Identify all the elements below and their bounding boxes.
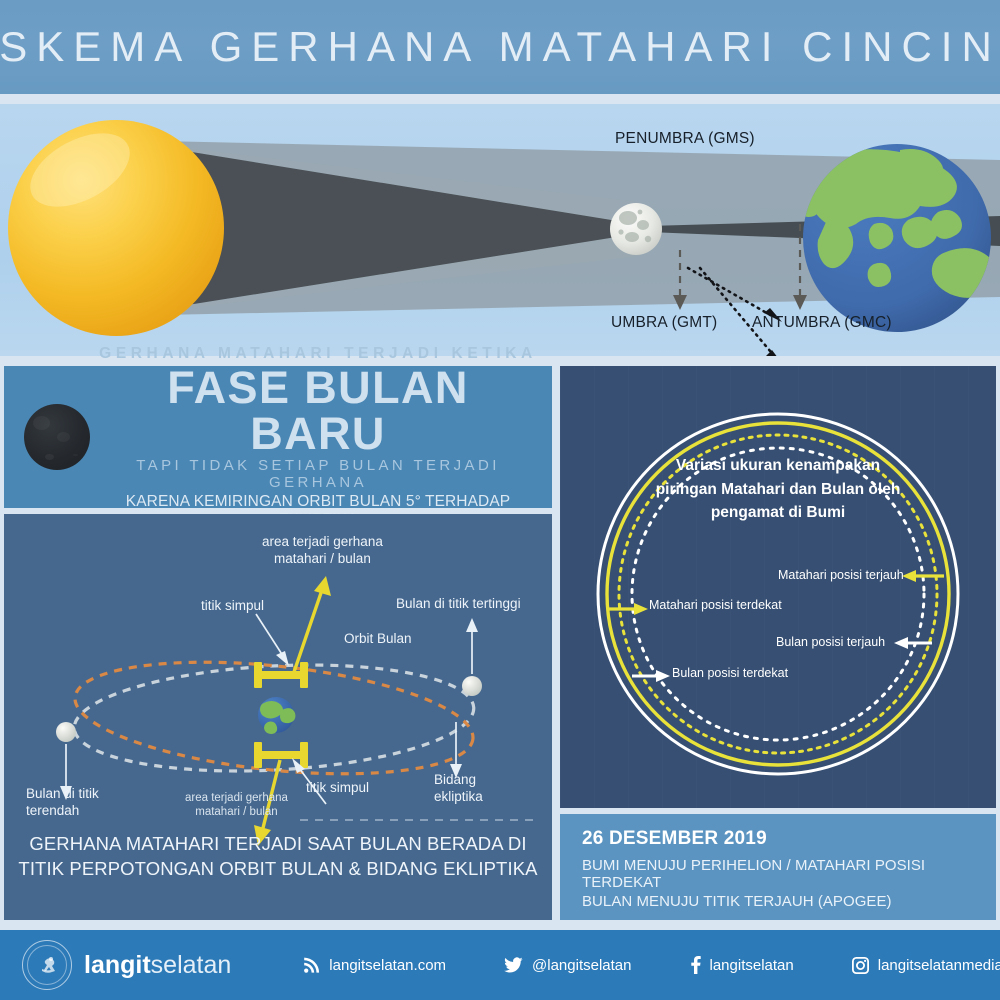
facebook-icon bbox=[690, 956, 701, 974]
label-bulan-titik-terendah: Bulan di titik terendah bbox=[26, 786, 99, 820]
link-website[interactable]: langitselatan.com bbox=[303, 957, 446, 974]
label-bidang-ekliptika: Bidang ekliptika bbox=[434, 772, 483, 806]
link-twitter[interactable]: @langitselatan bbox=[504, 957, 631, 974]
brand-logo[interactable]: langitselatan bbox=[22, 940, 231, 990]
eclipse-area-arrow-top bbox=[294, 590, 322, 672]
page-title: SKEMA GERHANA MATAHARI CINCIN bbox=[0, 23, 1000, 71]
event-date: 26 DESEMBER 2019 bbox=[582, 828, 996, 850]
arrow-bulan-terdekat bbox=[632, 670, 670, 682]
rss-icon bbox=[303, 957, 320, 974]
label-titik-simpul-top: titik simpul bbox=[201, 598, 264, 615]
moon-orbit-panel: area terjadi gerhana matahari / bulan ti… bbox=[4, 514, 552, 920]
infographic-page: SKEMA GERHANA MATAHARI CINCIN bbox=[0, 0, 1000, 1000]
event-note-2: BULAN MENUJU TITIK TERJAUH (APOGEE) bbox=[582, 893, 996, 910]
fase-line-1: GERHANA MATAHARI TERJADI KETIKA bbox=[94, 345, 542, 363]
label-umbra: UMBRA (GMT) bbox=[611, 314, 717, 332]
node-marker-bottom bbox=[254, 742, 308, 768]
page-title-bar: SKEMA GERHANA MATAHARI CINCIN bbox=[0, 0, 1000, 94]
link-facebook-label: langitselatan bbox=[710, 957, 794, 974]
brand-bold: langit bbox=[84, 951, 151, 979]
event-date-panel: 26 DESEMBER 2019 BUMI MENUJU PERIHELION … bbox=[560, 814, 996, 920]
link-instagram[interactable]: langitselatanmedia bbox=[852, 957, 1000, 974]
label-eclipse-area-bottom: area terjadi gerhana matahari / bulan bbox=[185, 791, 288, 820]
fase-headline: FASE BULAN BARU bbox=[94, 365, 542, 457]
moon-high-point-icon bbox=[462, 676, 482, 696]
apparent-size-panel: Variasi ukuran kenampakan piringan Matah… bbox=[560, 366, 996, 808]
label-orbit-bulan: Orbit Bulan bbox=[344, 631, 412, 648]
brand-wordmark: langitselatan bbox=[84, 951, 231, 980]
label-bulan-titik-tertinggi: Bulan di titik tertinggi bbox=[396, 596, 521, 613]
event-note-1: BUMI MENUJU PERIHELION / MATAHARI POSISI… bbox=[582, 857, 996, 891]
label-titik-simpul-bottom: titik simpul bbox=[306, 780, 369, 797]
new-moon-icon bbox=[24, 404, 90, 470]
apparent-size-title: Variasi ukuran kenampakan piringan Matah… bbox=[560, 454, 996, 525]
eclipse-area-arrowhead-top bbox=[314, 576, 331, 596]
footer-bar: langitselatan langitselatan.com @langits… bbox=[0, 930, 1000, 1000]
moon-icon bbox=[610, 203, 662, 255]
moon-low-point-icon bbox=[56, 722, 76, 742]
label-antumbra: ANTUMBRA (GMC) bbox=[752, 314, 892, 332]
link-facebook[interactable]: langitselatan bbox=[690, 956, 794, 974]
label-penumbra: PENUMBRA (GMS) bbox=[615, 130, 755, 148]
label-eclipse-area-top: area terjadi gerhana matahari / bulan bbox=[262, 534, 383, 568]
new-moon-phase-panel: GERHANA MATAHARI TERJADI KETIKA FASE BUL… bbox=[4, 366, 552, 508]
arrow-matahari-terdekat bbox=[608, 603, 648, 615]
link-instagram-label: langitselatanmedia bbox=[878, 957, 1000, 974]
link-website-label: langitselatan.com bbox=[329, 957, 446, 974]
orbit-panel-caption: GERHANA MATAHARI TERJADI SAAT BULAN BERA… bbox=[4, 832, 552, 881]
antumbra-arrowhead bbox=[793, 295, 807, 310]
fase-line-3: TAPI TIDAK SETIAP BULAN TERJADI GERHANA bbox=[94, 457, 542, 491]
instagram-icon bbox=[852, 957, 869, 974]
langitselatan-emblem-icon bbox=[22, 940, 72, 990]
earth-mini-icon bbox=[258, 697, 295, 734]
label-bulan-posisi-terjauh: Bulan posisi terjauh bbox=[776, 635, 885, 649]
twitter-icon bbox=[504, 957, 523, 974]
brand-light: selatan bbox=[151, 951, 232, 979]
pointer-simpul-top bbox=[256, 614, 285, 659]
label-bulan-posisi-terdekat: Bulan posisi terdekat bbox=[672, 666, 788, 680]
link-twitter-label: @langitselatan bbox=[532, 957, 631, 974]
eclipse-geometry-diagram: PENUMBRA (GMS) UMBRA (GMT) ANTUMBRA (GMC… bbox=[0, 104, 1000, 356]
label-matahari-posisi-terdekat: Matahari posisi terdekat bbox=[649, 598, 782, 612]
label-matahari-posisi-terjauh: Matahari posisi terjauh bbox=[778, 568, 904, 582]
